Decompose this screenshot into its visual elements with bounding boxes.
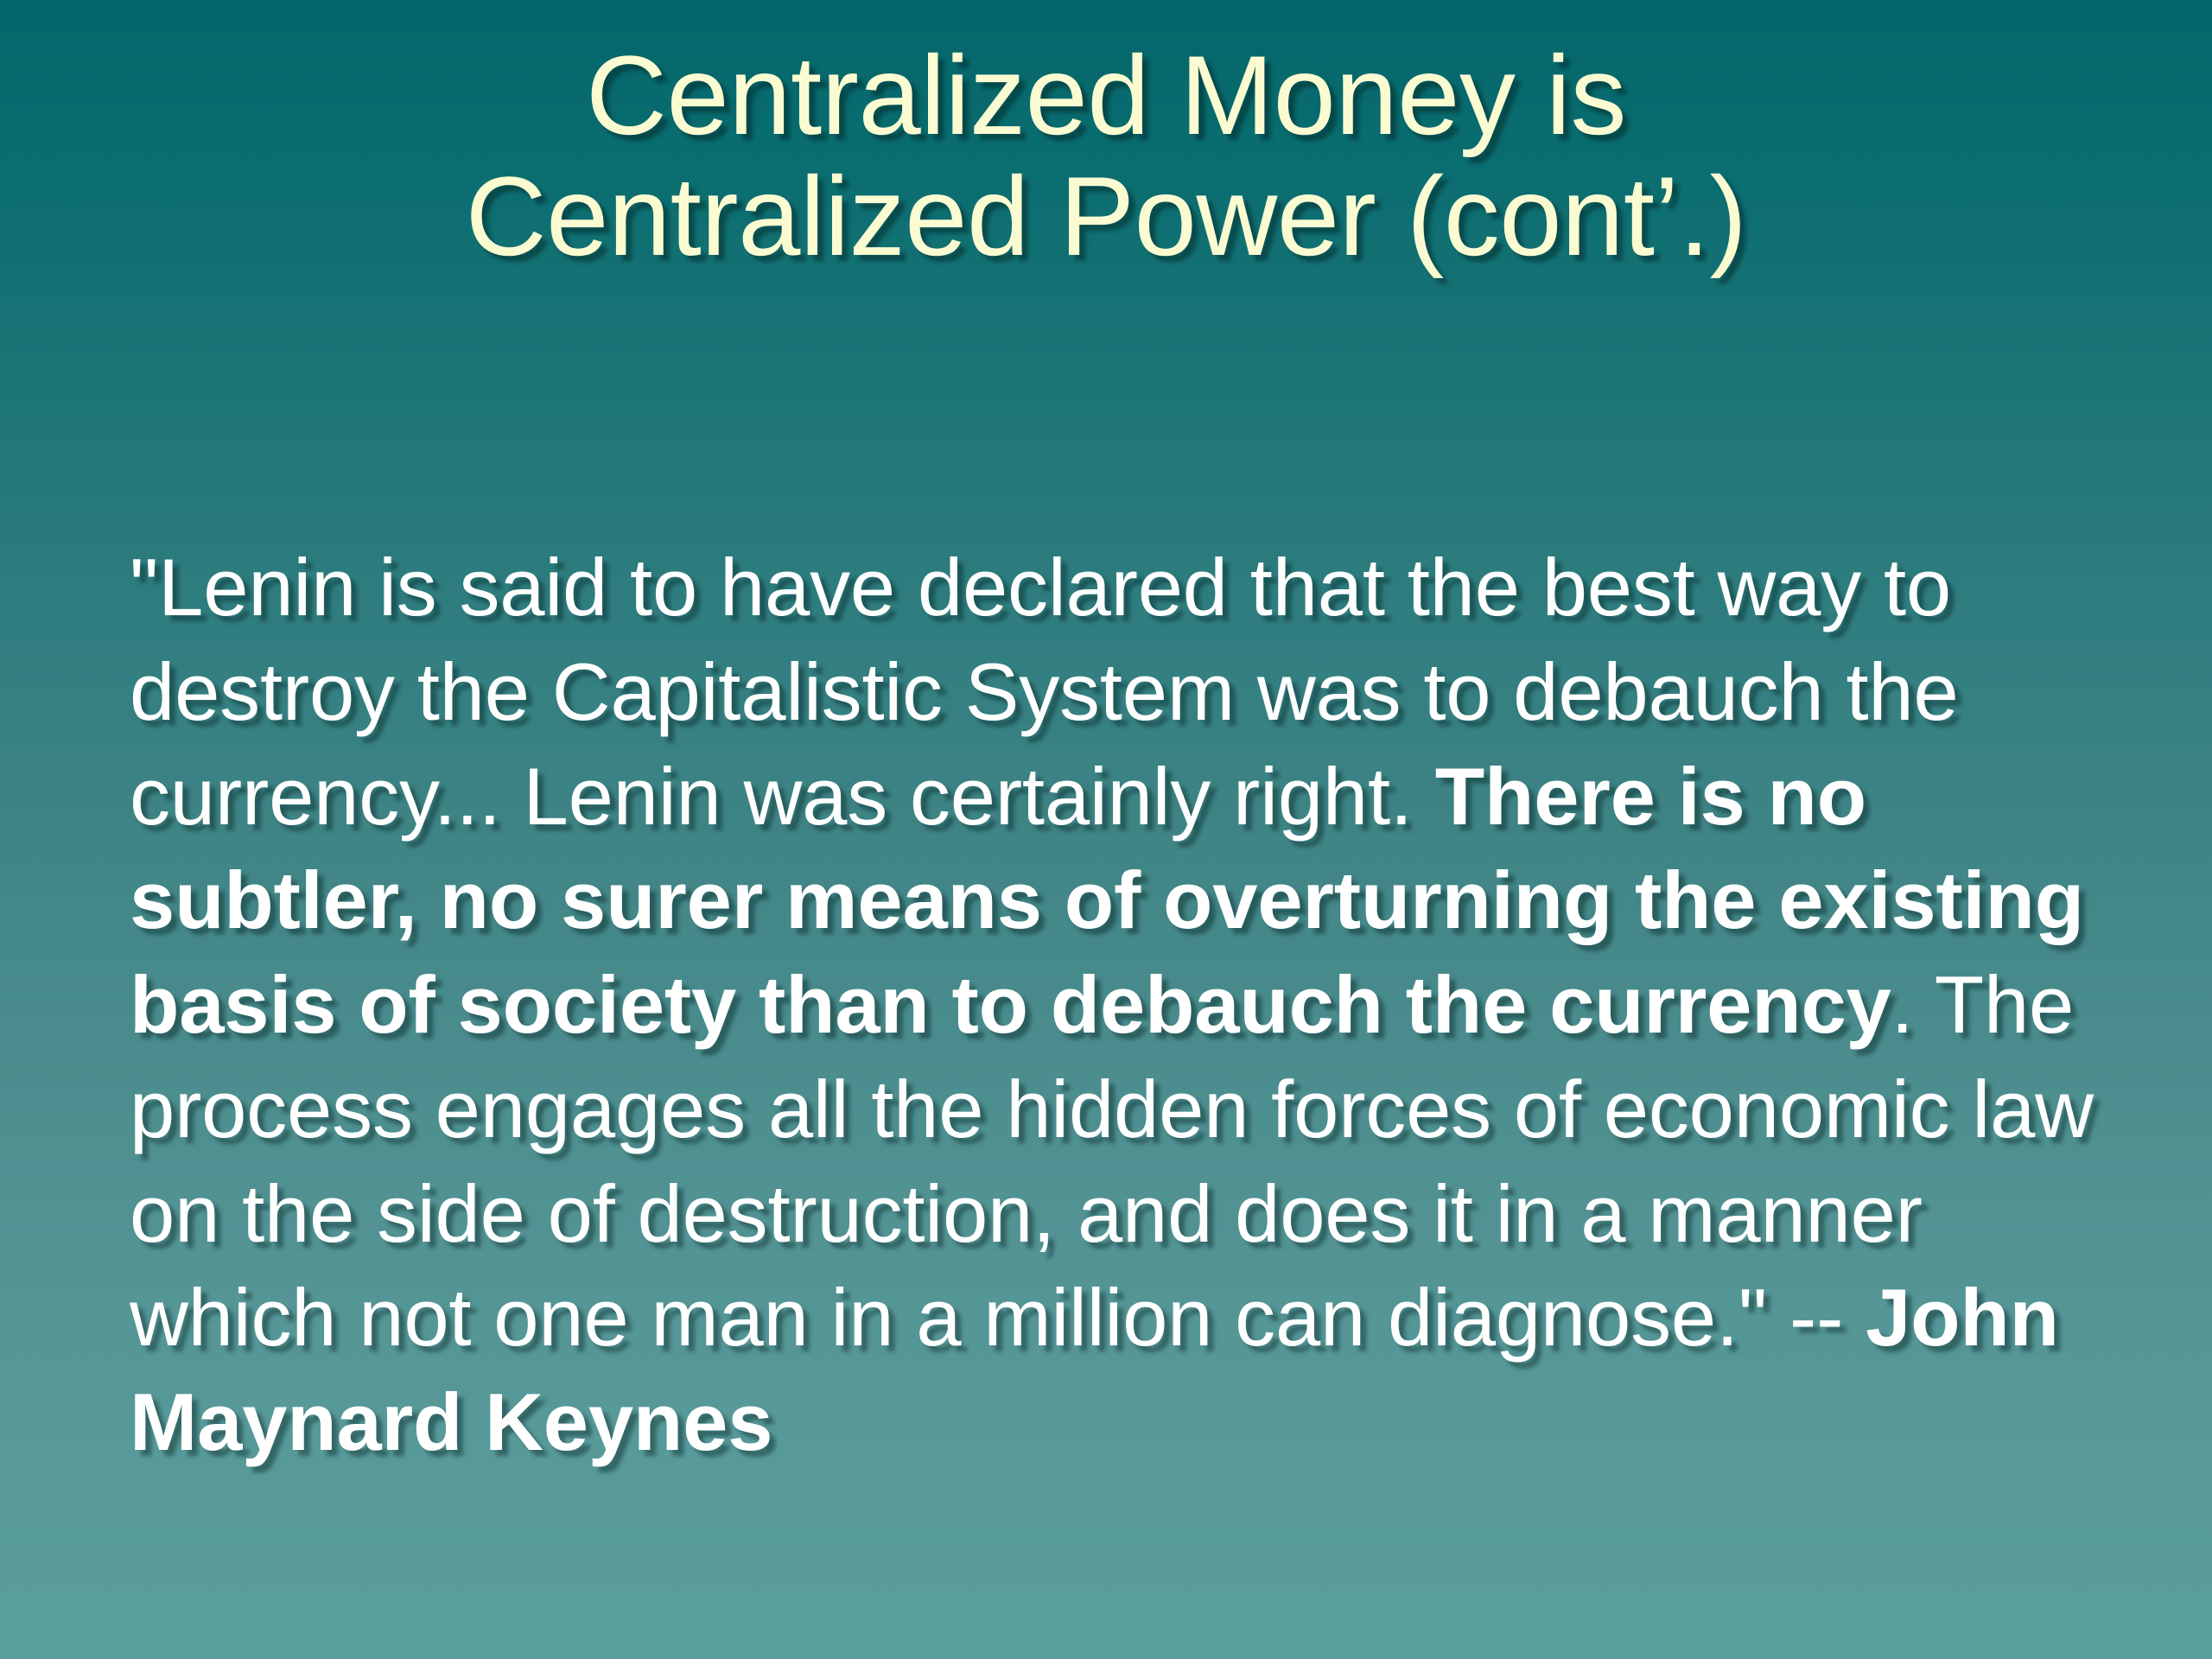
presentation-slide: Centralized Money is Centralized Power (…	[0, 0, 2212, 1659]
quote-body-text: "Lenin is said to have declared that the…	[130, 536, 2108, 1475]
title-line-2: Centralized Power (cont’.)	[0, 156, 2212, 276]
title-line-1: Centralized Money is	[0, 35, 2212, 156]
slide-title: Centralized Money is Centralized Power (…	[0, 35, 2212, 277]
